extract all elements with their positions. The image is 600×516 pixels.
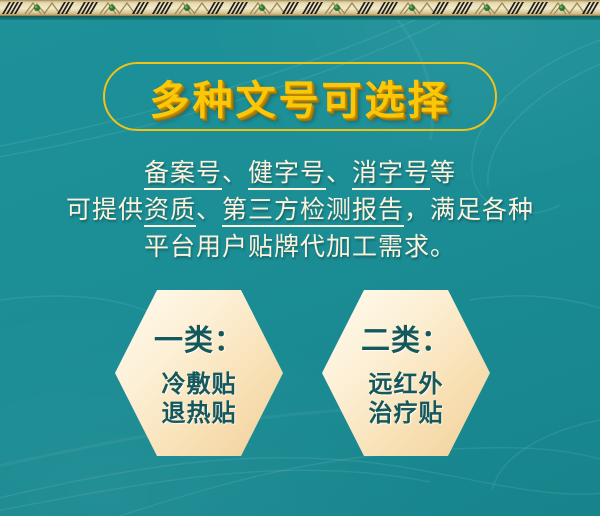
category-item: 治疗贴: [369, 400, 444, 429]
category-items: 冷敷贴 退热贴: [162, 371, 237, 429]
promo-poster: 多种文号可选择 备案号、健字号、消字号等 可提供资质、第三方检测报告，满足各种 …: [0, 0, 600, 516]
text-run: 、: [326, 160, 352, 187]
description-line-2: 可提供资质、第三方检测报告，满足各种: [0, 192, 600, 229]
highlight-term: 第三方检测报告: [222, 197, 404, 227]
page-title: 多种文号可选择: [103, 62, 497, 131]
category-title: 二类：: [361, 317, 451, 359]
category-card-1[interactable]: 一类： 冷敷贴 退热贴: [115, 290, 283, 456]
text-run: 、: [222, 160, 248, 187]
category-item: 退热贴: [162, 400, 237, 429]
category-title: 一类：: [154, 317, 244, 359]
highlight-term: 资质: [144, 197, 196, 227]
border-under-stripe: [0, 16, 600, 20]
category-items: 远红外 治疗贴: [369, 371, 444, 429]
highlight-term: 备案号: [144, 160, 222, 190]
description-paragraph: 备案号、健字号、消字号等 可提供资质、第三方检测报告，满足各种 平台用户贴牌代加…: [0, 155, 600, 266]
category-card-2[interactable]: 二类： 远红外 治疗贴: [322, 290, 490, 456]
description-line-1: 备案号、健字号、消字号等: [0, 155, 600, 192]
top-ornamental-border: [0, 0, 600, 16]
highlight-term: 消字号: [352, 160, 430, 190]
text-run: 可提供: [66, 197, 144, 224]
description-line-3: 平台用户贴牌代加工需求。: [0, 229, 600, 266]
text-run: 、: [196, 197, 222, 224]
category-item: 冷敷贴: [162, 371, 237, 400]
text-run: 等: [430, 160, 456, 187]
text-run: ，满足各种: [404, 197, 534, 224]
border-pattern-icon: [0, 0, 600, 16]
category-item: 远红外: [369, 371, 444, 400]
text-run: 平台用户贴牌代加工需求。: [144, 234, 456, 261]
highlight-term: 健字号: [248, 160, 326, 190]
